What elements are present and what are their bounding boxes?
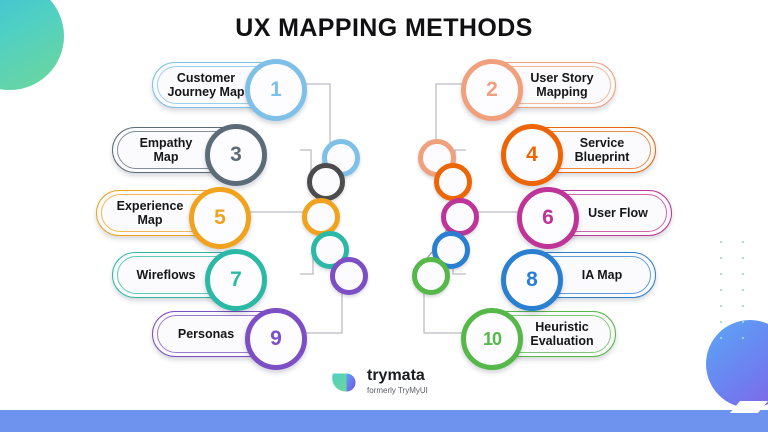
brand-tagline: formerly TryMyUI	[367, 387, 428, 395]
page-title: UX MAPPING METHODS	[0, 14, 768, 43]
method-pill-2[interactable]: User Story Mapping2	[466, 62, 616, 108]
method-pill-4[interactable]: Service Blueprint4	[506, 127, 656, 173]
method-pill-5[interactable]: Experience Map5	[96, 190, 246, 236]
method-pill-7[interactable]: Wireflows7	[112, 252, 262, 298]
chain-ring-right-1	[434, 163, 472, 201]
bottom-accent-bar	[0, 410, 768, 432]
chain-ring-left-4	[330, 257, 368, 295]
method-number-badge: 1	[245, 59, 307, 121]
method-pill-9[interactable]: Personas9	[152, 311, 302, 357]
brand-logo: trymata formerly TryMyUI	[330, 366, 428, 396]
method-number-badge: 9	[245, 308, 307, 370]
method-number-badge: 6	[517, 187, 579, 249]
chain-ring-left-1	[307, 163, 345, 201]
brand-name: trymata	[367, 368, 428, 384]
method-number-badge: 5	[189, 187, 251, 249]
infographic-canvas: UX MAPPING METHODS	[0, 0, 768, 432]
chain-ring-left-2	[302, 198, 340, 236]
method-number-badge: 8	[501, 249, 563, 311]
method-number-badge: 10	[461, 308, 523, 370]
chain-ring-right-4	[412, 257, 450, 295]
method-pill-6[interactable]: User Flow6	[522, 190, 672, 236]
method-number-badge: 2	[461, 59, 523, 121]
method-pill-3[interactable]: Empathy Map3	[112, 127, 262, 173]
method-pill-10[interactable]: Heuristic Evaluation10	[466, 311, 616, 357]
method-number-badge: 3	[205, 124, 267, 186]
method-number-badge: 4	[501, 124, 563, 186]
trymata-logo-icon	[330, 366, 360, 396]
method-number-badge: 7	[205, 249, 267, 311]
method-pill-1[interactable]: Customer Journey Map1	[152, 62, 302, 108]
decor-dot-grid	[708, 232, 752, 344]
method-pill-8[interactable]: IA Map8	[506, 252, 656, 298]
